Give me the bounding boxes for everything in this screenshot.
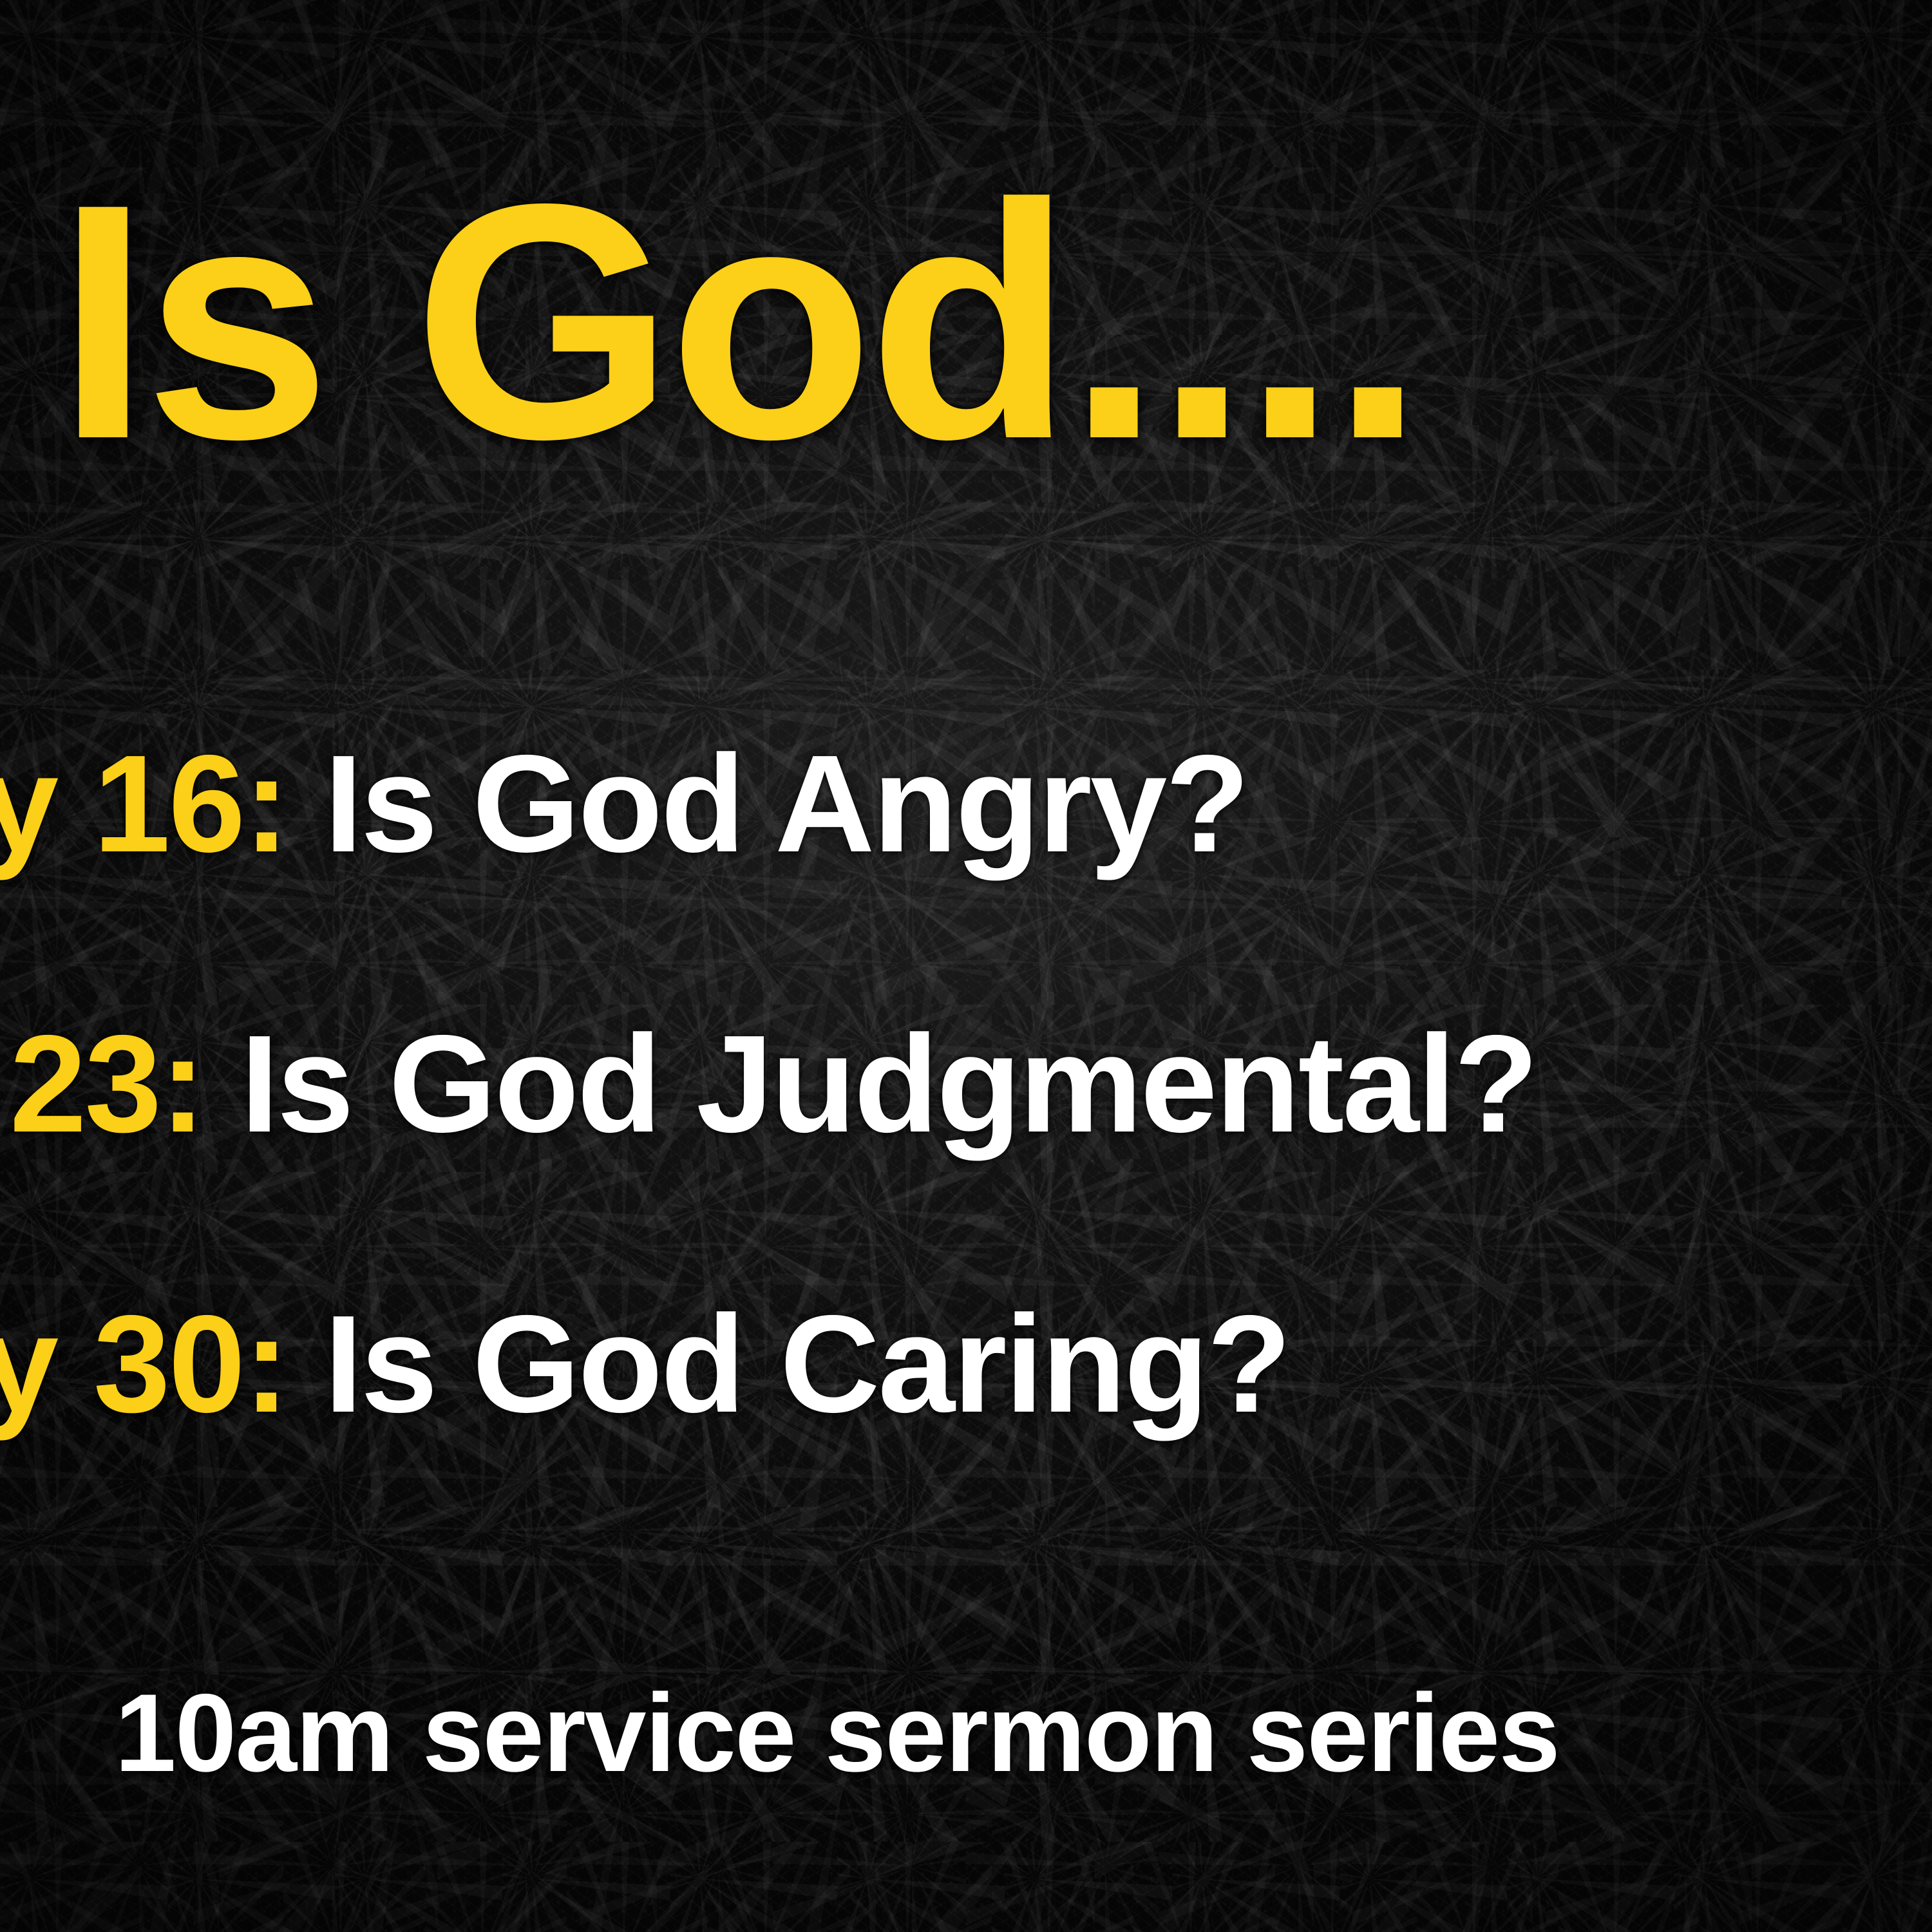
schedule-title-3: Is God Caring? <box>324 1286 1289 1441</box>
sermon-series-poster: Is God.... July 16: Is God Angry? July 2… <box>0 0 1932 1932</box>
schedule-date-2: July 23: <box>0 1006 204 1161</box>
schedule-title-2: Is God Judgmental? <box>240 1006 1537 1161</box>
sermon-schedule-list: July 16: Is God Angry? July 23: Is God J… <box>0 734 1932 1575</box>
schedule-row-2: July 23: Is God Judgmental? <box>0 1014 1932 1153</box>
service-caption: 10am service sermon series <box>115 1678 1559 1788</box>
schedule-row-3: July 30: Is God Caring? <box>0 1294 1932 1433</box>
page-title: Is God.... <box>57 155 1419 489</box>
schedule-date-1: July 16: <box>0 726 288 881</box>
schedule-title-1: Is God Angry? <box>324 726 1247 881</box>
schedule-row-1: July 16: Is God Angry? <box>0 734 1932 873</box>
poster-content: Is God.... July 16: Is God Angry? July 2… <box>0 0 1932 1932</box>
schedule-date-3: July 30: <box>0 1286 288 1441</box>
